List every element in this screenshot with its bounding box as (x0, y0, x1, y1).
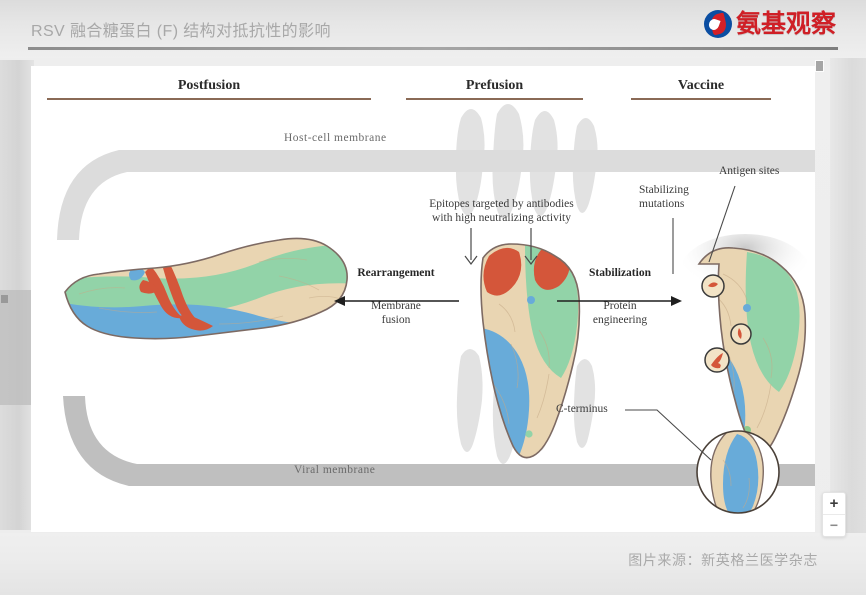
arrow-left-icon (331, 295, 461, 307)
stabilizing-mutation-markers (702, 275, 751, 372)
page-title: RSV 融合糖蛋白 (F) 结构对抵抗性的影响 (31, 17, 331, 41)
annotation-epitopes-line2: with high neutralizing activity (399, 211, 604, 225)
brand-name: 氨基观察 (736, 12, 836, 37)
figure-card: Postfusion Prefusion Vaccine Host-cell m… (31, 66, 815, 532)
edge-marker-handle[interactable] (1, 295, 8, 303)
epitope-pointer-arrows (399, 226, 604, 272)
header-divider (28, 47, 838, 50)
brand-logo: 氨基观察 (704, 10, 836, 38)
background-band-right (830, 58, 866, 533)
transition-sub-line2: fusion (331, 313, 461, 327)
column-label: Postfusion (47, 78, 371, 94)
c-terminus-leader-line (623, 402, 743, 482)
transition-title: Stabilization (555, 267, 685, 279)
slide-header: RSV 融合糖蛋白 (F) 结构对抵抗性的影响 氨基观察 (0, 0, 866, 56)
arrow-right-icon (555, 295, 685, 307)
column-rule (47, 98, 371, 100)
source-caption: 图片来源：新英格兰医学杂志 (628, 550, 818, 570)
scroll-thumb-handle[interactable] (815, 60, 824, 72)
column-rule (631, 98, 771, 100)
column-label: Prefusion (406, 78, 583, 94)
postfusion-protein-structure (59, 236, 359, 346)
host-cell-membrane-label: Host-cell membrane (284, 132, 387, 144)
column-rule (406, 98, 583, 100)
zoom-in-button[interactable]: + (823, 493, 845, 515)
viral-membrane-label: Viral membrane (294, 464, 375, 476)
brand-droplet-icon (704, 10, 732, 38)
column-label: Vaccine (631, 78, 771, 94)
column-header-postfusion: Postfusion (47, 78, 371, 100)
annotation-c-terminus: C-terminus (556, 402, 608, 416)
transition-title: Rearrangement (331, 267, 461, 279)
transition-sub-line2: engineering (555, 313, 685, 327)
zoom-controls[interactable]: + − (822, 492, 846, 537)
annotation-epitopes-line1: Epitopes targeted by antibodies (399, 197, 604, 211)
column-header-prefusion: Prefusion (406, 78, 583, 100)
zoom-out-button[interactable]: − (823, 515, 845, 536)
column-header-vaccine: Vaccine (631, 78, 771, 100)
annotation-epitopes: Epitopes targeted by antibodies with hig… (399, 197, 604, 225)
